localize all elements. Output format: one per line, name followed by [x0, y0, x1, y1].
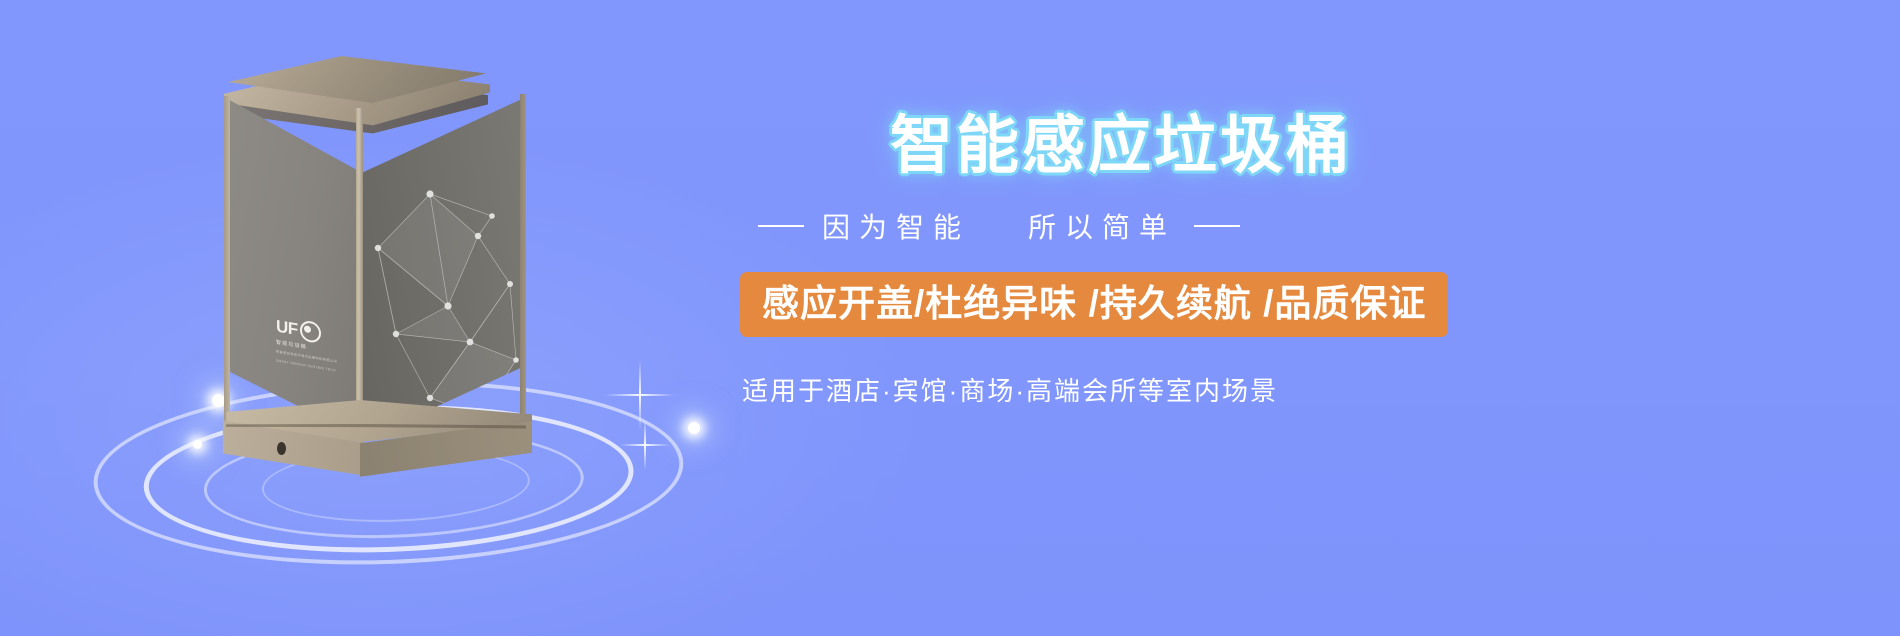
bin-face-right — [360, 98, 524, 442]
banner-copy: 智能感应垃圾桶 因为智能 所以简单 感应开盖/杜绝异味 /持久续航 /品质保证 … — [890, 112, 1850, 408]
product-illustration: UF 智能垃圾桶 智能感应科技环保垃圾桶科技有限公司 SMART SENSOR … — [60, 20, 720, 620]
tagline-rule-right — [1194, 225, 1240, 227]
brand-wordmark: UF — [276, 317, 298, 338]
tagline-rule-left — [758, 225, 804, 227]
banner-tagline: 因为智能 所以简单 — [758, 206, 1850, 246]
bin-edge-center — [356, 108, 363, 444]
brand-circle-icon — [300, 319, 321, 344]
bin-edge-left — [224, 96, 230, 434]
banner-headline: 智能感应垃圾桶 — [890, 112, 1850, 180]
tagline-part-two: 所以简单 — [1028, 206, 1176, 246]
sensor-port-icon — [277, 442, 286, 455]
sparkle-star-icon — [620, 420, 670, 470]
bin-face-left — [226, 98, 362, 438]
sparkle-glow-icon — [193, 440, 202, 449]
feature-badge: 感应开盖/杜绝异味 /持久续航 /品质保证 — [740, 272, 1448, 337]
scenes-line: 适用于酒店·宾馆·商场·高端会所等室内场景 — [742, 371, 1850, 408]
sparkle-glow-icon — [688, 422, 700, 434]
product-banner: UF 智能垃圾桶 智能感应科技环保垃圾桶科技有限公司 SMART SENSOR … — [0, 0, 1900, 636]
polygon-network-graphic — [360, 98, 524, 442]
trash-bin-body: UF 智能垃圾桶 智能感应科技环保垃圾桶科技有限公司 SMART SENSOR … — [220, 50, 530, 470]
tagline-part-one: 因为智能 — [822, 206, 970, 246]
bin-edge-right — [520, 94, 526, 424]
